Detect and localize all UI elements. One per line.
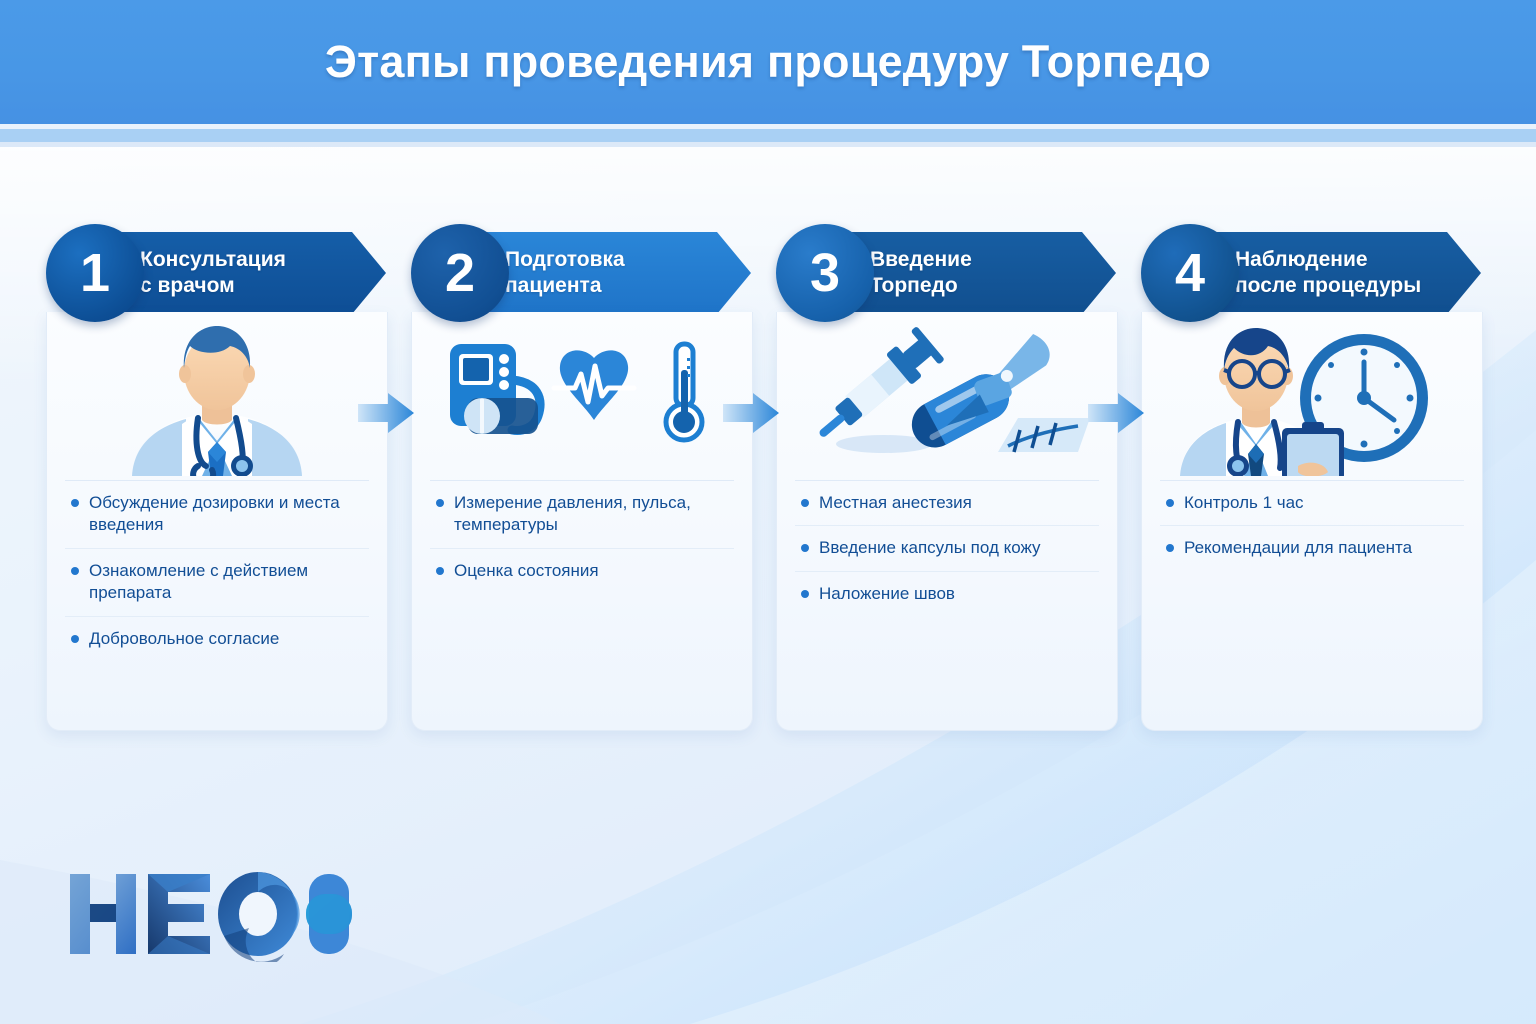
step-2-bullets: Измерение давления, пульса, температуры … xyxy=(412,480,752,603)
step-card-2[interactable]: Подготовка пациента 2 xyxy=(411,232,751,731)
step-3-bullets: Местная анестезия Введение капсулы под к… xyxy=(777,480,1117,626)
doctor-stethoscope-icon xyxy=(102,316,332,476)
bullet-dot-icon xyxy=(1166,544,1174,552)
bullet-item: Измерение давления, пульса, температуры xyxy=(430,480,734,548)
infographic-canvas: Этапы проведения процедуру Торпедо Консу… xyxy=(0,0,1536,1024)
step-4-illustration xyxy=(1142,312,1482,480)
bullet-label: Обсуждение дозировки и места введения xyxy=(89,492,365,537)
bullet-dot-icon xyxy=(801,544,809,552)
syringe-capsule-scalpel-icon xyxy=(802,326,1092,466)
header-stripe-accent xyxy=(0,129,1536,142)
step-3-number-badge: 3 xyxy=(776,224,874,322)
bullet-label: Местная анестезия xyxy=(819,492,972,514)
bullet-item: Контроль 1 час xyxy=(1160,480,1464,525)
bullet-label: Измерение давления, пульса, температуры xyxy=(454,492,730,537)
bullet-item: Обсуждение дозировки и места введения xyxy=(65,480,369,548)
bullet-dot-icon xyxy=(1166,499,1174,507)
step-3-illustration xyxy=(777,312,1117,480)
steps-row: Консультация с врачом 1 xyxy=(0,232,1536,752)
step-2-illustration xyxy=(412,312,752,480)
bullet-item: Рекомендации для пациента xyxy=(1160,525,1464,570)
bullet-label: Контроль 1 час xyxy=(1184,492,1304,514)
step-3-number: 3 xyxy=(810,242,840,304)
bullet-dot-icon xyxy=(436,499,444,507)
bullet-item: Местная анестезия xyxy=(795,480,1099,525)
bullet-dot-icon xyxy=(71,567,79,575)
step-1-number-badge: 1 xyxy=(46,224,144,322)
bullet-item: Ознакомление с действием препарата xyxy=(65,548,369,616)
page-header: Этапы проведения процедуру Торпедо xyxy=(0,0,1536,124)
bullet-item: Введение капсулы под кожу xyxy=(795,525,1099,570)
step-4-bullets: Контроль 1 час Рекомендации для пациента xyxy=(1142,480,1482,581)
step-2-number: 2 xyxy=(445,242,475,304)
bullet-dot-icon xyxy=(71,499,79,507)
arrow-step-1-to-2 xyxy=(356,388,416,438)
step-2-body: Измерение давления, пульса, температуры … xyxy=(411,312,753,731)
step-1-body: Обсуждение дозировки и места введения Оз… xyxy=(46,312,388,731)
bullet-label: Рекомендации для пациента xyxy=(1184,537,1412,559)
step-1-bullets: Обсуждение дозировки и места введения Оз… xyxy=(47,480,387,671)
doctor-clipboard-clock-icon xyxy=(1172,316,1452,476)
page-title: Этапы проведения процедуру Торпедо xyxy=(325,36,1211,88)
step-2-number-badge: 2 xyxy=(411,224,509,322)
neo-plus-logo[interactable] xyxy=(64,866,354,962)
bullet-label: Ознакомление с действием препарата xyxy=(89,560,365,605)
step-1-illustration xyxy=(47,312,387,480)
bullet-dot-icon xyxy=(71,635,79,643)
step-card-1[interactable]: Консультация с врачом 1 xyxy=(46,232,386,731)
bullet-item: Оценка состояния xyxy=(430,548,734,593)
step-card-3[interactable]: Введение Торпедо 3 xyxy=(776,232,1116,731)
bullet-item: Наложение швов xyxy=(795,571,1099,616)
bullet-label: Наложение швов xyxy=(819,583,955,605)
step-4-body: Контроль 1 час Рекомендации для пациента xyxy=(1141,312,1483,731)
arrow-step-2-to-3 xyxy=(721,388,781,438)
vitals-monitor-heart-thermometer-icon xyxy=(442,336,722,456)
step-card-4[interactable]: Наблюдение после процедуры 4 xyxy=(1141,232,1481,731)
bullet-dot-icon xyxy=(801,590,809,598)
bullet-dot-icon xyxy=(436,567,444,575)
bullet-label: Оценка состояния xyxy=(454,560,599,582)
bullet-label: Введение капсулы под кожу xyxy=(819,537,1041,559)
bullet-item: Добровольное согласие xyxy=(65,616,369,661)
step-4-number: 4 xyxy=(1175,242,1205,304)
step-4-number-badge: 4 xyxy=(1141,224,1239,322)
bullet-dot-icon xyxy=(801,499,809,507)
step-3-body: Местная анестезия Введение капсулы под к… xyxy=(776,312,1118,731)
bullet-label: Добровольное согласие xyxy=(89,628,279,650)
header-stripe-lower xyxy=(0,142,1536,147)
step-1-number: 1 xyxy=(80,242,110,304)
arrow-step-3-to-4 xyxy=(1086,388,1146,438)
